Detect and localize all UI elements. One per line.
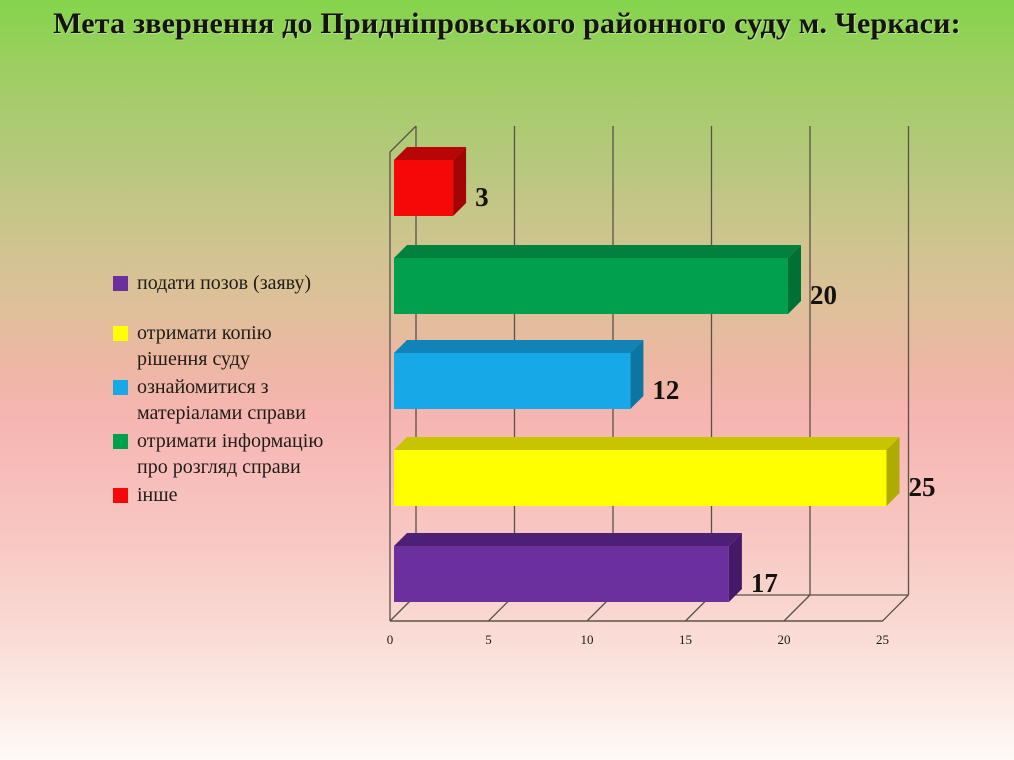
- axis-tick-label: 20: [778, 632, 791, 647]
- axis-tick-label: 15: [679, 632, 692, 647]
- slide-canvas: Мета звернення до Придніпровського район…: [0, 0, 1014, 760]
- chart-canvas: 0510152025320122517: [0, 0, 1014, 760]
- bar-value-label: 25: [909, 472, 936, 502]
- bar-chart-plot: 0510152025320122517: [0, 0, 1014, 760]
- bar: [394, 147, 466, 216]
- bar-value-label: 20: [810, 280, 837, 310]
- bar: [394, 340, 643, 409]
- bar: [394, 245, 801, 314]
- bar-value-label: 17: [751, 568, 778, 598]
- axis-tick-label: 10: [581, 632, 594, 647]
- bar-value-label: 3: [475, 182, 489, 212]
- axis-tick-label: 0: [387, 632, 394, 647]
- bar: [394, 437, 900, 506]
- axis-tick-label: 25: [876, 632, 889, 647]
- bar-value-label: 12: [652, 375, 679, 405]
- bar: [394, 533, 742, 602]
- axis-tick-label: 5: [485, 632, 492, 647]
